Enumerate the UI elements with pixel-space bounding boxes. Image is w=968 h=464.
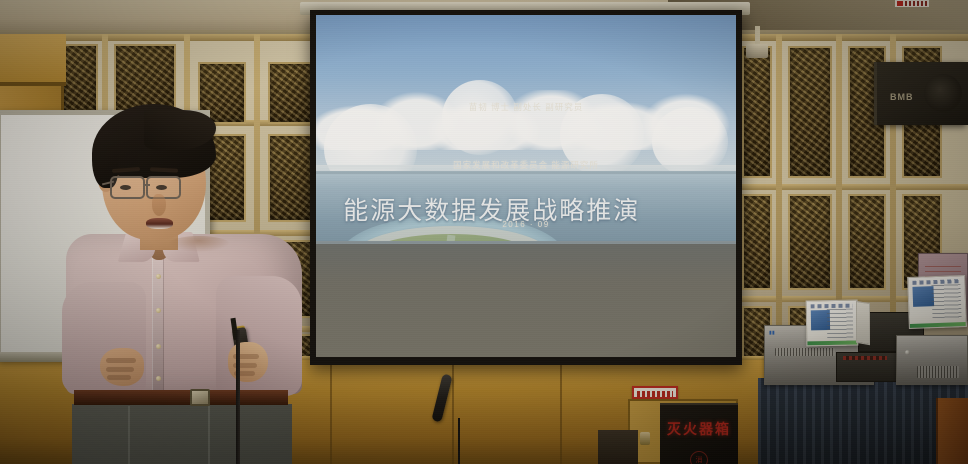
projected-slide: 能源大数据发展战略推演 苗韧 博士 副处长 副研究员 国家发展和改革委员会 能源… (316, 15, 736, 357)
fire-equipment-sign (632, 386, 678, 399)
mic-stand-pole (236, 330, 240, 464)
presenter-nose (152, 194, 166, 216)
microphone-stand (458, 418, 460, 464)
slide-presenter-name: 苗韧 博士 副处长 副研究员 (316, 101, 736, 113)
presenter (58, 106, 308, 464)
presenter-belt (74, 390, 288, 405)
fire-cabinet-seal: 消 (690, 451, 708, 464)
speaker-cone (924, 74, 962, 112)
wall-speaker: BMB (874, 62, 968, 125)
presenter-mouth (146, 218, 173, 229)
slide-title-band: 能源大数据发展战略推演 (316, 174, 736, 244)
slide-affiliation: 国家发展和改革委员会 能源研究所 (316, 159, 736, 171)
wooden-lectern (936, 398, 968, 464)
slide-date: 2016 · 09 (316, 220, 736, 229)
presenter-hand-left (100, 348, 144, 386)
eyeglasses-lens-left (110, 176, 145, 199)
presenter-hand-right (228, 342, 268, 382)
belt-buckle (190, 389, 210, 406)
ceiling-red-sign (895, 0, 929, 7)
equipment-chassis-right (896, 335, 968, 385)
tent-card-left-fold (856, 301, 870, 345)
fire-cabinet-door[interactable]: 灭火器箱 消 (660, 403, 738, 464)
slide-lower-panel (316, 241, 736, 357)
eyeglasses-bridge (144, 184, 150, 186)
equipment-brand-mark: ▮▮ (769, 330, 775, 336)
projection-screen-frame: 能源大数据发展战略推演 苗韧 博士 副处长 副研究员 国家发展和改革委员会 能源… (310, 10, 742, 365)
tent-card-left (806, 300, 859, 347)
shirt-placket (152, 242, 164, 394)
floor-dark-box (598, 430, 638, 464)
presentation-room-photo: 能源大数据发展战略推演 苗韧 博士 副处长 副研究员 国家发展和改革委员会 能源… (0, 0, 968, 464)
speaker-brand-label: BMB (890, 92, 914, 102)
presenter-trousers (72, 404, 292, 464)
projector (746, 44, 768, 58)
tent-card-right (907, 275, 967, 329)
fire-cabinet-latch[interactable] (640, 432, 650, 445)
fire-cabinet-label: 灭火器箱 (660, 419, 738, 439)
equipment-chassis-dark-2 (836, 352, 900, 382)
wood-door-header (0, 34, 66, 86)
